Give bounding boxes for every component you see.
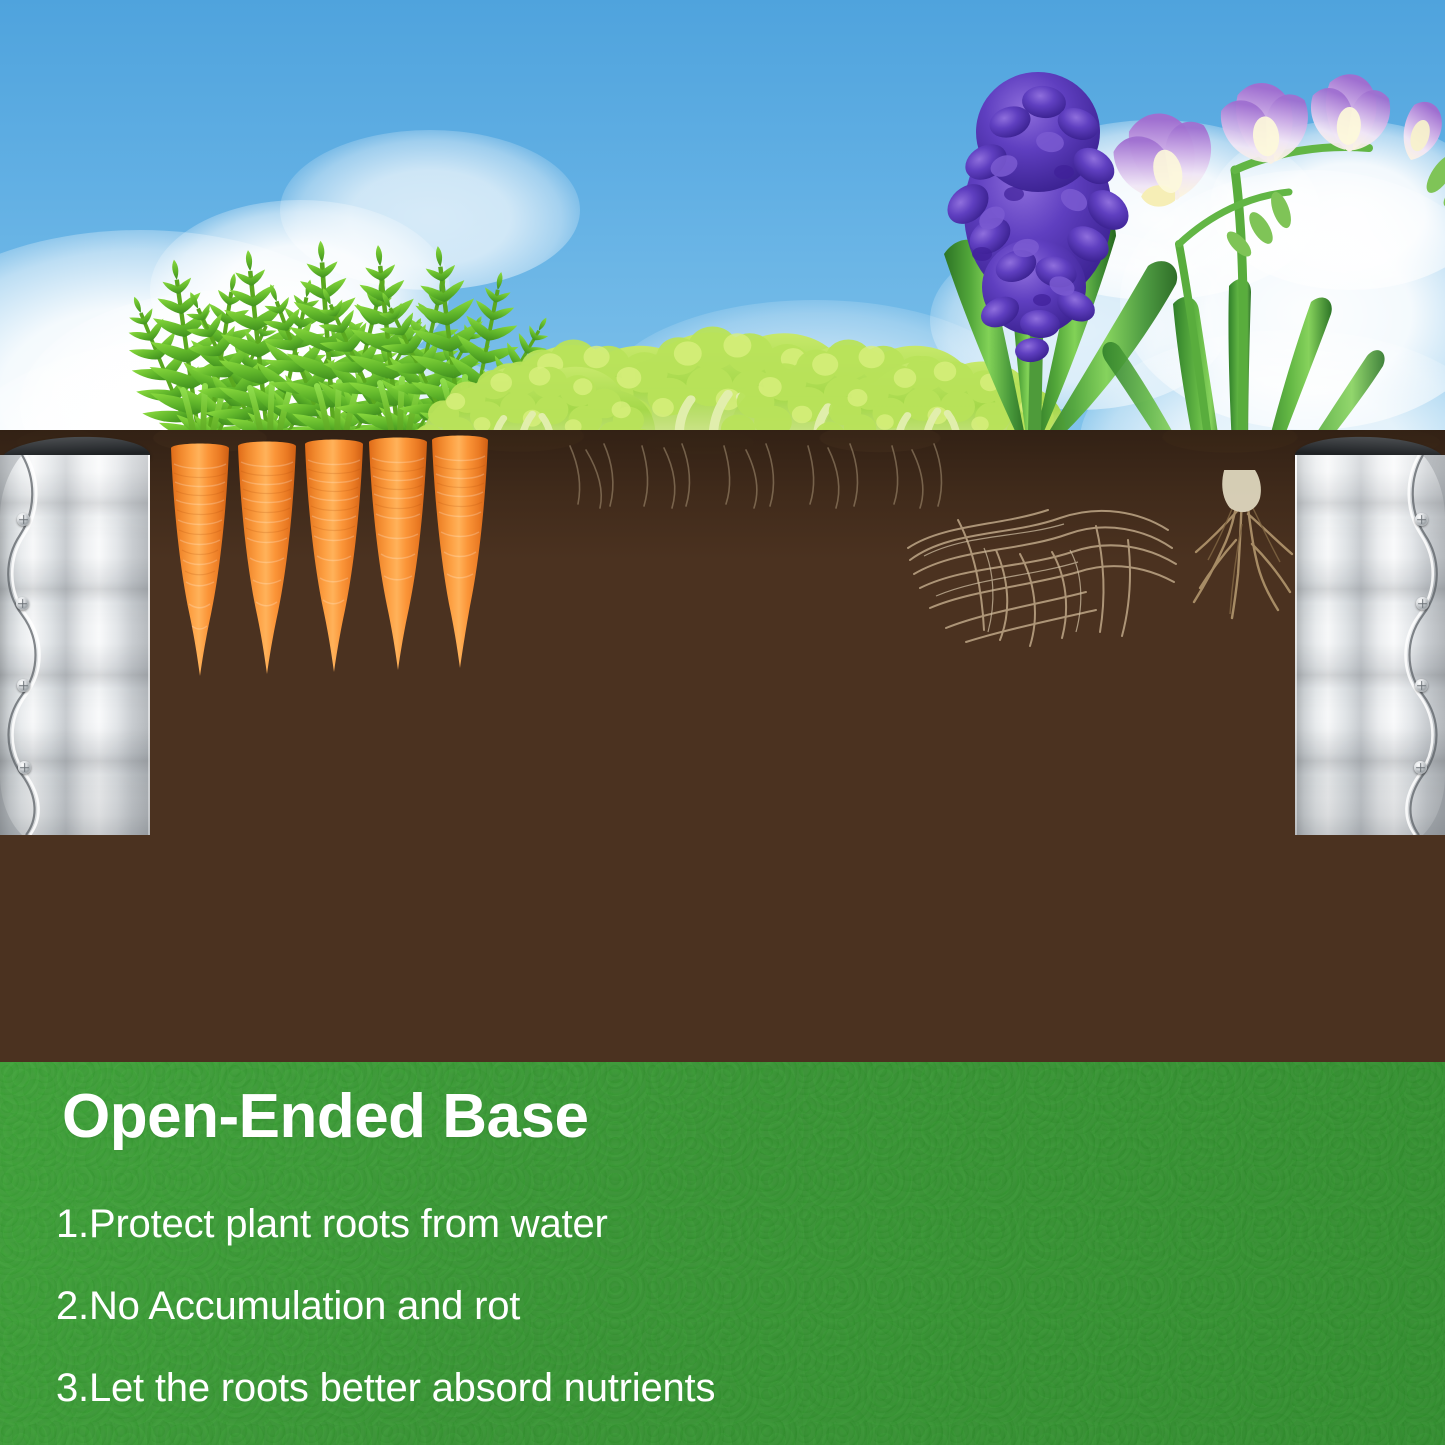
screw-icon: [17, 679, 30, 692]
benefits-list: 1.Protect plant roots from water 2.No Ac…: [56, 1204, 715, 1445]
screw-icon: [17, 513, 30, 526]
screw-icon: [18, 761, 31, 774]
screw-icon: [1414, 761, 1427, 774]
panel-title: Open-Ended Base: [62, 1084, 589, 1149]
screw-icon: [1416, 597, 1429, 610]
wavy-edge-right: [1399, 455, 1445, 835]
soil-cross-section: [0, 430, 1445, 1062]
metal-panel-right: [1295, 455, 1445, 835]
carrot-root: [171, 436, 488, 677]
list-item: 1.Protect plant roots from water: [56, 1204, 715, 1244]
list-item: 2.No Accumulation and rot: [56, 1286, 715, 1326]
screw-icon: [1415, 679, 1428, 692]
garden-bed-photo: [0, 0, 1445, 1062]
info-panel: Open-Ended Base 1.Protect plant roots fr…: [0, 1062, 1445, 1445]
product-infographic: Open-Ended Base 1.Protect plant roots fr…: [0, 0, 1445, 1445]
screw-icon: [16, 597, 29, 610]
metal-panel-left: [0, 455, 150, 835]
section-cut-right: [1295, 455, 1297, 835]
screw-icon: [1415, 513, 1428, 526]
list-item: 3.Let the roots better absord nutrients: [56, 1368, 715, 1408]
wavy-edge-left: [0, 455, 46, 835]
carrot-roots-group: [0, 430, 1445, 1062]
section-cut-left: [148, 455, 150, 835]
